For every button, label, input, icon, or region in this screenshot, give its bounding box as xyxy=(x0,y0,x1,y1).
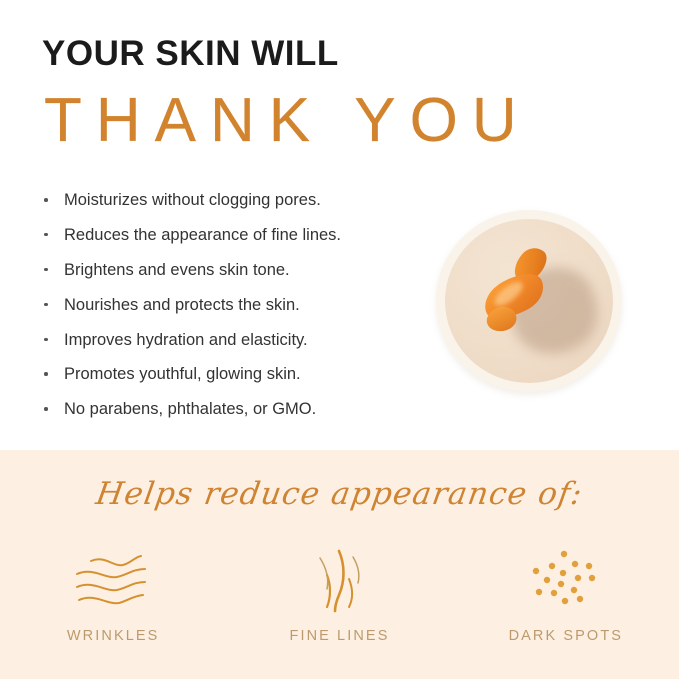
benefit-text: Moisturizes without clogging pores. xyxy=(64,191,321,209)
infographic-page: YOUR SKIN WILL THANK YOU Moisturizes wit… xyxy=(0,0,679,679)
bullet-point-icon xyxy=(44,338,48,342)
concern-item-dark-spots: DARK SPOTS xyxy=(453,545,679,644)
bullet-point-icon xyxy=(44,198,48,202)
bullet-point-icon xyxy=(44,268,48,272)
wavy-lines-icon xyxy=(65,545,161,617)
concerns-section: Helps reduce appearance of: WRINKLES xyxy=(0,450,679,679)
concern-label: FINE LINES xyxy=(290,628,390,644)
benefits-section: YOUR SKIN WILL THANK YOU Moisturizes wit… xyxy=(0,0,679,450)
bullet-point-icon xyxy=(44,233,48,237)
benefit-text: No parabens, phthalates, or GMO. xyxy=(64,400,316,418)
list-item: Improves hydration and elasticity. xyxy=(42,332,442,349)
section-heading: Helps reduce appearance of: xyxy=(0,476,679,512)
bullet-point-icon xyxy=(44,407,48,411)
list-item: Reduces the appearance of fine lines. xyxy=(42,227,442,244)
concern-label: WRINKLES xyxy=(67,628,160,644)
benefit-text: Nourishes and protects the skin. xyxy=(64,296,300,314)
benefit-text: Promotes youthful, glowing skin. xyxy=(64,365,301,383)
list-item: No parabens, phthalates, or GMO. xyxy=(42,401,442,418)
list-item: Nourishes and protects the skin. xyxy=(42,297,442,314)
benefit-text: Improves hydration and elasticity. xyxy=(64,331,308,349)
headline-primary: YOUR SKIN WILL xyxy=(42,36,339,71)
vertical-curves-icon xyxy=(291,545,387,617)
benefit-text: Reduces the appearance of fine lines. xyxy=(64,226,341,244)
bullet-point-icon xyxy=(44,303,48,307)
benefits-list: Moisturizes without clogging pores. Redu… xyxy=(42,192,442,436)
list-item: Brightens and evens skin tone. xyxy=(42,262,442,279)
concern-item-fine-lines: FINE LINES xyxy=(226,545,452,644)
bullet-point-icon xyxy=(44,372,48,376)
concerns-row: WRINKLES FINE LINES xyxy=(0,545,679,644)
list-item: Moisturizes without clogging pores. xyxy=(42,192,442,209)
scattered-dots-icon xyxy=(518,545,614,617)
benefit-text: Brightens and evens skin tone. xyxy=(64,261,290,279)
concern-label: DARK SPOTS xyxy=(509,628,623,644)
product-photo xyxy=(436,210,622,392)
list-item: Promotes youthful, glowing skin. xyxy=(42,366,442,383)
concern-item-wrinkles: WRINKLES xyxy=(0,545,226,644)
headline-secondary: THANK YOU xyxy=(44,82,644,160)
